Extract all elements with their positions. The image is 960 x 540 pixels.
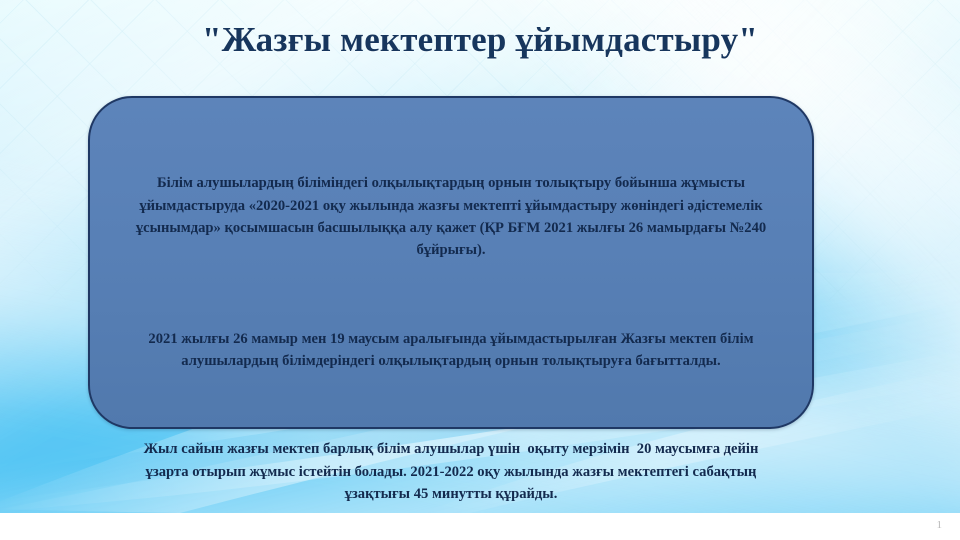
content-paragraph-1: Білім алушылардың біліміндегі олқылықтар… — [124, 172, 778, 261]
slide-title: "Жазғы мектептер ұйымдастыру" — [0, 20, 960, 60]
presentation-slide: "Жазғы мектептер ұйымдастыру" Білім алуш… — [0, 0, 960, 540]
slide-footer-area — [0, 513, 960, 540]
content-paragraph-list: Білім алушылардың біліміндегі олқылықтар… — [124, 128, 778, 513]
slide-number: 1 — [937, 519, 943, 531]
content-paragraph-3: Жыл сайын жазғы мектеп барлық білім алуш… — [124, 438, 778, 505]
content-paragraph-2: 2021 жылғы 26 мамыр мен 19 маусым аралығ… — [124, 328, 778, 372]
slide-canvas: "Жазғы мектептер ұйымдастыру" Білім алуш… — [0, 0, 960, 513]
content-card: Білім алушылардың біліміндегі олқылықтар… — [88, 96, 814, 429]
